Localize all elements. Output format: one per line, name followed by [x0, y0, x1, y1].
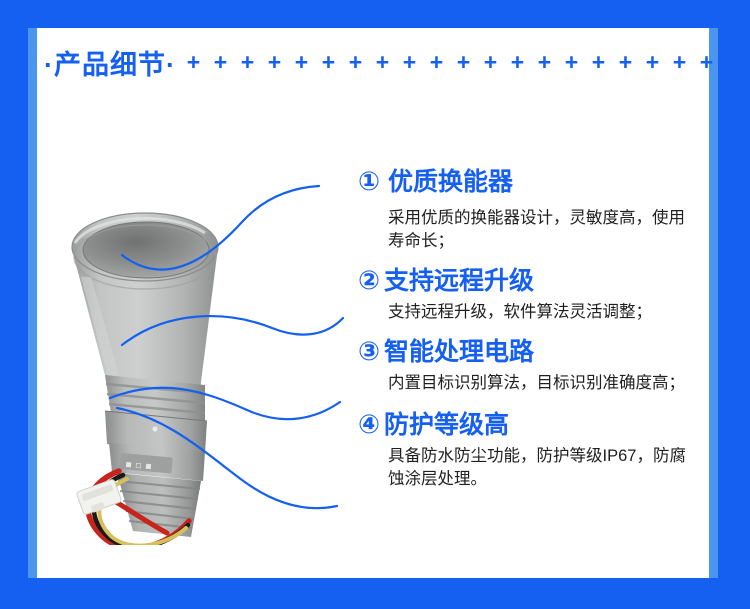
plus-decoration: + [504, 51, 531, 74]
accent-stripe-left [28, 28, 37, 578]
feature-title-1: 优质换能器 [388, 169, 513, 197]
feature-number-3: ③ [358, 338, 380, 367]
feature-heading: ② 支持远程升级 [358, 267, 698, 296]
plus-decoration: + [207, 51, 234, 74]
feature-title-3: 智能处理电路 [384, 339, 534, 367]
plus-decoration: + [396, 51, 423, 74]
feature-heading: ③ 智能处理电路 [358, 338, 698, 367]
feature-title-4: 防护等级高 [384, 412, 509, 440]
feature-heading: ④ 防护等级高 [358, 411, 698, 440]
feature-body-3: 内置目标识别算法，目标识别准确度高； [388, 372, 688, 395]
plus-decoration-row: ++++++++++++++++++++++ [180, 51, 718, 74]
page-title: ·产品细节· [37, 43, 176, 82]
plus-decoration: + [423, 51, 450, 74]
section-header: ·产品细节· ++++++++++++++++++++++ [37, 40, 718, 84]
plus-decoration: + [234, 51, 261, 74]
plus-decoration: + [693, 51, 718, 74]
plus-decoration: + [450, 51, 477, 74]
feature-body-1: 采用优质的换能器设计，灵敏度高，使用寿命长； [388, 207, 688, 254]
plus-decoration: + [477, 51, 504, 74]
feature-body-4: 具备防水防尘功能，防护等级IP67，防腐蚀涂层处理。 [388, 445, 688, 492]
feature-heading: ① 优质换能器 [358, 168, 698, 197]
plus-decoration: + [639, 51, 666, 74]
plus-decoration: + [288, 51, 315, 74]
plus-decoration: + [612, 51, 639, 74]
feature-number-4: ④ [358, 411, 380, 440]
feature-item-3: ③ 智能处理电路 内置目标识别算法，目标识别准确度高； [358, 338, 698, 395]
feature-body-2: 支持远程升级，软件算法灵活调整； [388, 301, 688, 324]
plus-decoration: + [261, 51, 288, 74]
svg-text:▪ ▫ ▪: ▪ ▫ ▪ [125, 459, 153, 472]
accent-stripe-right [709, 28, 718, 578]
product-detail-page: ·产品细节· ++++++++++++++++++++++ [0, 0, 750, 609]
plus-decoration: + [558, 51, 585, 74]
feature-number-1: ① [358, 168, 380, 197]
feature-item-1: ① 优质换能器 采用优质的换能器设计，灵敏度高，使用寿命长； [358, 168, 698, 253]
plus-decoration: + [369, 51, 396, 74]
plus-decoration: + [666, 51, 693, 74]
plus-decoration: + [585, 51, 612, 74]
feature-list: ① 优质换能器 采用优质的换能器设计，灵敏度高，使用寿命长； ② 支持远程升级 … [358, 168, 698, 502]
feature-number-2: ② [358, 267, 380, 296]
plus-decoration: + [531, 51, 558, 74]
plus-decoration: + [315, 51, 342, 74]
feature-item-2: ② 支持远程升级 支持远程升级，软件算法灵活调整； [358, 267, 698, 324]
plus-decoration: + [180, 51, 207, 74]
feature-title-2: 支持远程升级 [384, 268, 534, 296]
product-image: ▪ ▫ ▪ [55, 185, 295, 545]
feature-item-4: ④ 防护等级高 具备防水防尘功能，防护等级IP67，防腐蚀涂层处理。 [358, 411, 698, 491]
plus-decoration: + [342, 51, 369, 74]
